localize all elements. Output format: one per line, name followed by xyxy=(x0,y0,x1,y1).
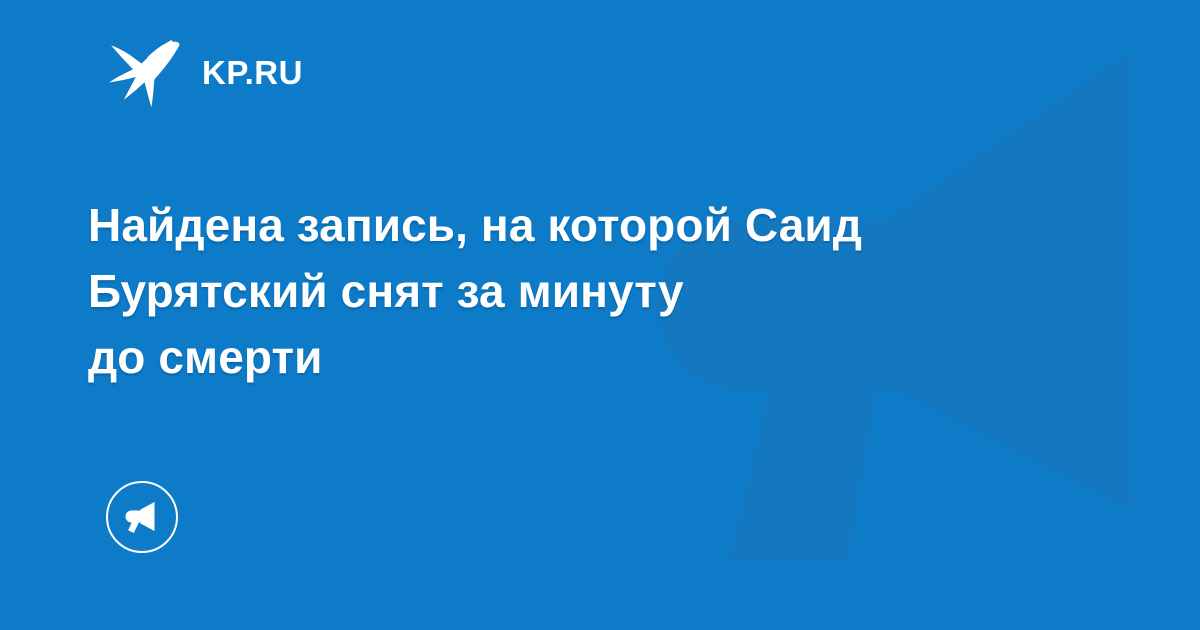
megaphone-icon xyxy=(122,497,162,537)
brand-name: KP.RU xyxy=(202,56,303,89)
headline-line-2: Бурятский снят за минуту xyxy=(88,258,1088,324)
page-title: Найдена запись, на которой Саид Бурятски… xyxy=(88,192,1088,390)
megaphone-badge[interactable] xyxy=(106,481,178,553)
swallow-bird-icon xyxy=(108,36,182,108)
brand[interactable]: KP.RU xyxy=(108,36,303,108)
headline-line-1: Найдена запись, на которой Саид xyxy=(88,192,1088,258)
social-share-card: KP.RU Найдена запись, на которой Саид Бу… xyxy=(0,0,1200,630)
headline-line-3: до смерти xyxy=(88,324,1088,390)
